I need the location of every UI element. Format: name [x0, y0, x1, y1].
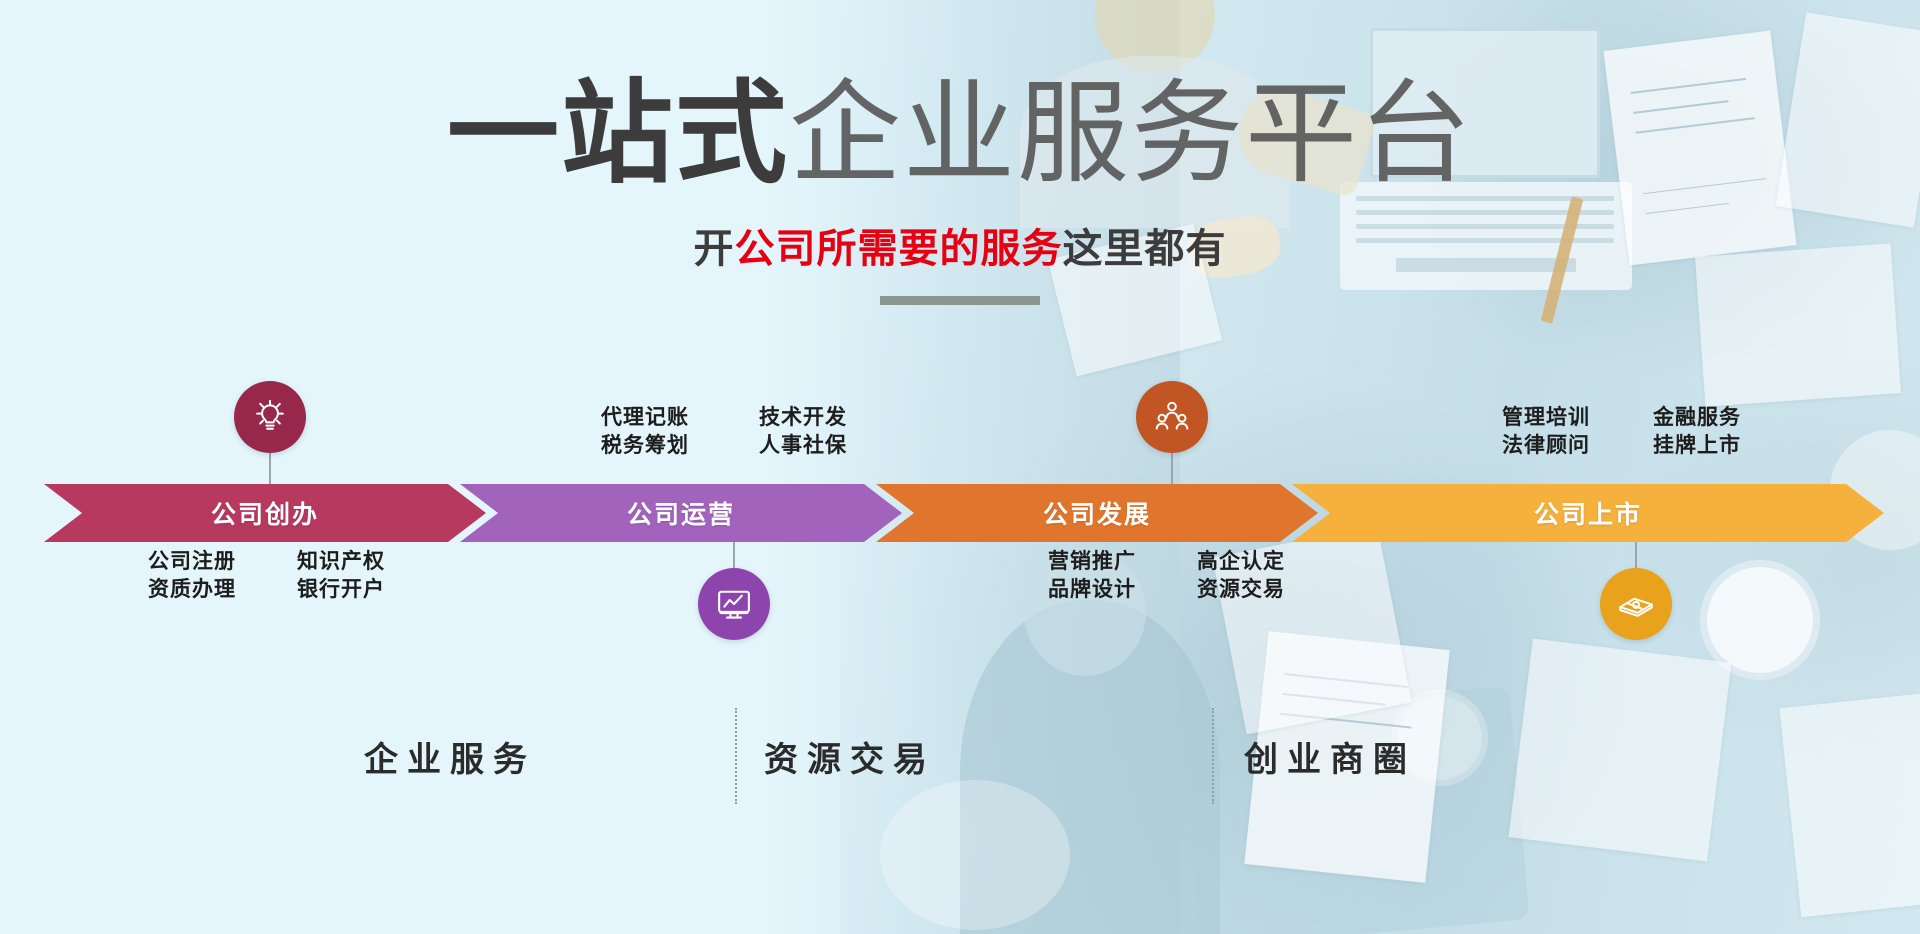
stage-2-keyword-1: 代理记账 税务筹划 — [601, 404, 689, 459]
connector-stem-1 — [269, 448, 271, 488]
stage-3-keyword-2: 高企认定 资源交易 — [1197, 548, 1285, 603]
category-row: 企业服务 资源交易 创业商圈 — [0, 726, 1920, 826]
stage-1-keyword-1: 公司注册 资质办理 — [148, 548, 236, 603]
banner-header: 一站式企业服务平台 开公司所需要的服务这里都有 — [0, 0, 1920, 305]
keyword-line: 知识产权 — [297, 548, 385, 576]
connector-stem-4 — [1635, 538, 1637, 568]
keyword-line: 技术开发 — [759, 404, 847, 432]
keyword-line: 营销推广 — [1048, 548, 1136, 576]
subtitle-prefix: 开 — [694, 227, 735, 271]
page-subtitle: 开公司所需要的服务这里都有 — [0, 216, 1920, 274]
stage-3-icon-badge[interactable] — [1136, 381, 1208, 453]
subtitle-highlight: 公司所需要的服务 — [735, 227, 1063, 271]
title-thin-part: 企业服务平台 — [789, 71, 1473, 196]
keyword-line: 银行开户 — [297, 576, 385, 604]
category-enterprise-services[interactable]: 企业服务 — [300, 726, 600, 786]
keyword-line: 资源交易 — [1197, 576, 1285, 604]
subtitle-suffix: 这里都有 — [1063, 227, 1227, 271]
title-bold-part: 一站式 — [447, 71, 789, 196]
timeline-stage-1[interactable]: 公司创办 — [44, 484, 486, 542]
keyword-line: 管理培训 — [1502, 404, 1590, 432]
stage-3-keyword-1: 营销推广 品牌设计 — [1048, 548, 1136, 603]
monitor-chart-icon — [713, 583, 755, 625]
stage-4-keyword-1: 管理培训 法律顾问 — [1502, 404, 1590, 459]
keyword-line: 人事社保 — [759, 432, 847, 460]
timeline-stage-4[interactable]: 公司上市 — [1292, 484, 1884, 542]
stage-1-keyword-2: 知识产权 银行开户 — [297, 548, 385, 603]
timeline-stage-3[interactable]: 公司发展 — [876, 484, 1318, 542]
timeline-stage-3-label: 公司发展 — [1043, 495, 1151, 531]
keyword-line: 品牌设计 — [1048, 576, 1136, 604]
keyword-line: 公司注册 — [148, 548, 236, 576]
keyword-line: 资质办理 — [148, 576, 236, 604]
category-resource-trading[interactable]: 资源交易 — [700, 726, 1000, 786]
connector-stem-2 — [733, 538, 735, 568]
keyword-line: 法律顾问 — [1502, 432, 1590, 460]
timeline-stage-1-label: 公司创办 — [211, 495, 319, 531]
category-startup-circle[interactable]: 创业商圈 — [1180, 726, 1480, 786]
header-divider — [880, 296, 1040, 305]
money-stack-icon — [1615, 583, 1657, 625]
process-timeline: 公司创办 公司运营 公司发展 公司上市 — [44, 484, 1884, 542]
keyword-line: 税务筹划 — [601, 432, 689, 460]
coffee-cup-shape — [1700, 560, 1820, 680]
lightbulb-icon — [250, 397, 290, 437]
timeline-stage-2-label: 公司运营 — [627, 495, 735, 531]
stage-4-icon-badge[interactable] — [1600, 568, 1672, 640]
infographic-banner: 一站式企业服务平台 开公司所需要的服务这里都有 公司创办 公司运营 公司发展 公… — [0, 0, 1920, 934]
stage-1-icon-badge[interactable] — [234, 381, 306, 453]
stage-2-icon-badge[interactable] — [698, 568, 770, 640]
keyword-line: 挂牌上市 — [1653, 432, 1741, 460]
stage-2-keyword-2: 技术开发 人事社保 — [759, 404, 847, 459]
people-group-icon — [1152, 397, 1192, 437]
keyword-line: 代理记账 — [601, 404, 689, 432]
keyword-line: 高企认定 — [1197, 548, 1285, 576]
timeline-stage-4-label: 公司上市 — [1534, 495, 1642, 531]
timeline-stage-2[interactable]: 公司运营 — [460, 484, 902, 542]
connector-stem-3 — [1171, 448, 1173, 488]
keyword-line: 金融服务 — [1653, 404, 1741, 432]
page-title: 一站式企业服务平台 — [0, 78, 1920, 190]
stage-4-keyword-2: 金融服务 挂牌上市 — [1653, 404, 1741, 459]
